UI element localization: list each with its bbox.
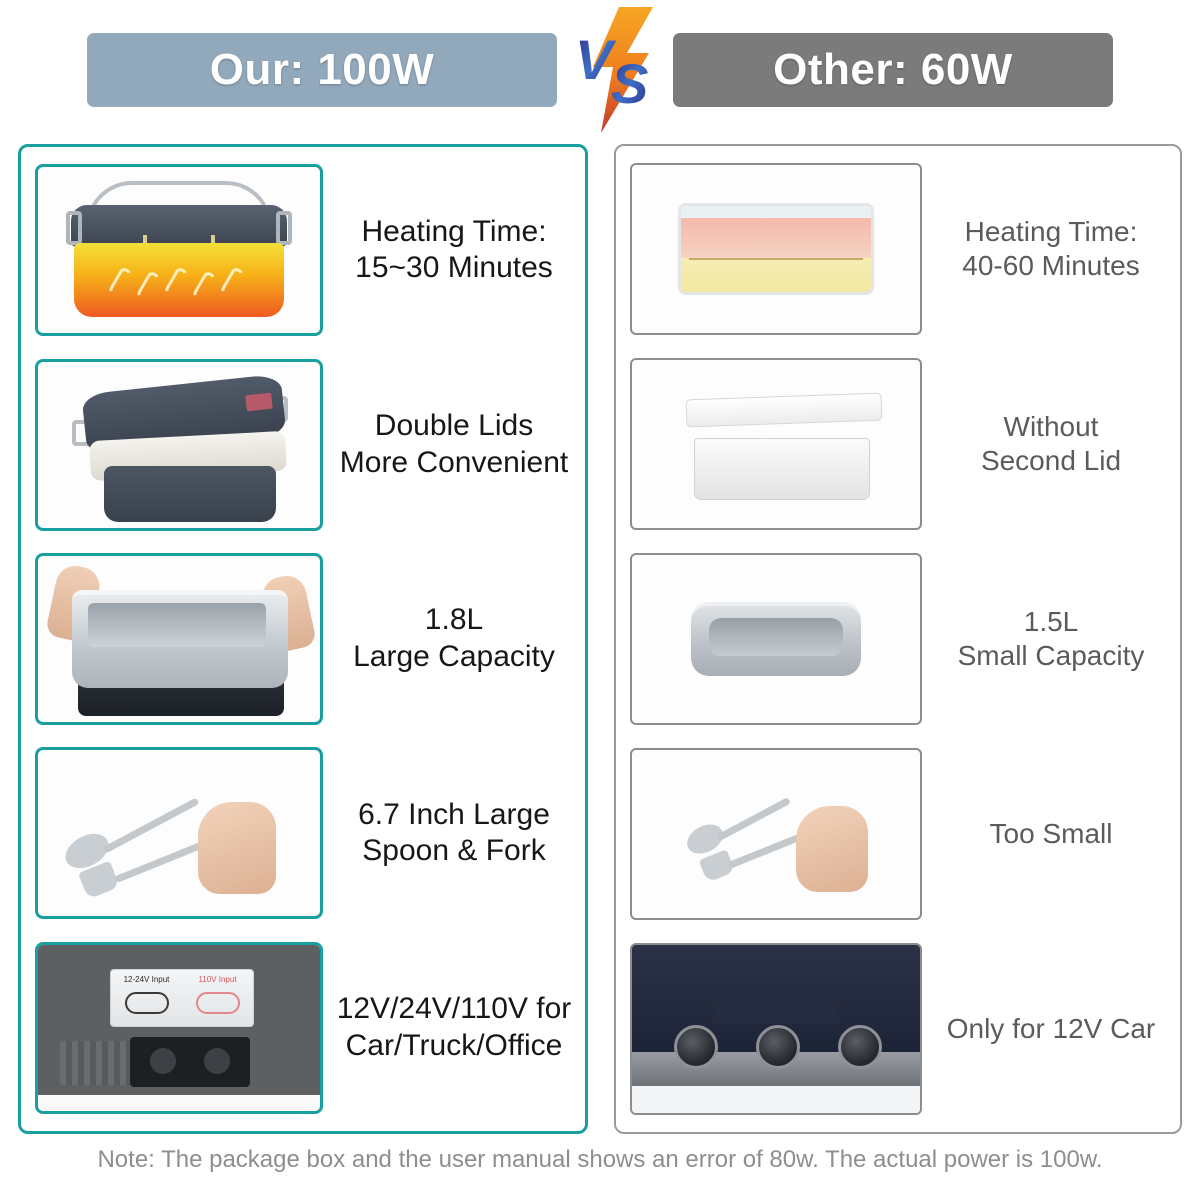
feature-caption: Heating Time: 40-60 Minutes <box>922 215 1180 283</box>
car-socket-panel-image <box>630 943 922 1115</box>
caption-line-1: 12V/24V/110V for <box>337 992 572 1025</box>
car-socket-icon <box>756 1025 800 1069</box>
caption-line-2: Small Capacity <box>928 639 1174 673</box>
translucent-box-shape <box>678 203 874 295</box>
caption-line-1: Without <box>1004 411 1099 442</box>
caption-line-1: Double Lids <box>375 409 533 442</box>
other-power-banner: Other: 60W <box>673 33 1113 107</box>
caption-line-2: 15~30 Minutes <box>329 250 579 287</box>
panel-base-strip <box>38 1095 320 1111</box>
feature-row-single-lid: Without Second Lid <box>616 347 1180 542</box>
panel-base-strip <box>632 1086 920 1113</box>
box-clip-left-icon <box>66 211 82 245</box>
hand-icon <box>198 802 276 894</box>
other-power-label: Other: 60W <box>773 45 1013 95</box>
feature-row-heating-time: Heating Time: 40-60 Minutes <box>616 152 1180 347</box>
footer-note-text: Note: The package box and the user manua… <box>97 1146 1102 1173</box>
caption-line-1: Heating Time: <box>965 216 1138 247</box>
feature-caption: Without Second Lid <box>922 410 1180 478</box>
our-power-banner: Our: 100W <box>87 33 557 107</box>
feature-caption: Only for 12V Car <box>922 1012 1180 1046</box>
feature-caption: Heating Time: 15~30 Minutes <box>323 214 585 287</box>
feature-caption: 1.5L Small Capacity <box>922 605 1180 673</box>
upper-compartment <box>681 218 871 258</box>
caption-line-1: Only for 12V Car <box>947 1013 1156 1044</box>
our-power-label: Our: 100W <box>210 45 435 95</box>
spoon-handle <box>715 797 791 842</box>
caption-line-1: Heating Time: <box>361 215 546 248</box>
panel-bump <box>712 983 840 1023</box>
steel-container-shape <box>72 590 288 688</box>
feature-caption: Double Lids More Convenient <box>323 408 585 481</box>
caption-line-1: 6.7 Inch Large <box>358 798 550 831</box>
box-lid-shape <box>71 205 287 247</box>
steel-tray-shape <box>691 602 861 676</box>
divider-line <box>689 258 864 260</box>
ac-input-text: 110V Input <box>198 975 236 984</box>
box-base-shape <box>104 466 276 522</box>
header-bar: Our: 100W V S <box>0 0 1200 140</box>
feature-row-double-lids: Double Lids More Convenient <box>21 347 585 541</box>
power-input-panel-image: 12-24V Input 110V Input <box>35 942 323 1114</box>
double-lid-lunch-box-image <box>35 359 323 531</box>
container-interior <box>88 603 266 647</box>
footer-note: Note: The package box and the user manua… <box>0 1146 1200 1174</box>
large-steel-container-hands-image <box>35 553 323 725</box>
caption-line-1: 1.5L <box>1024 606 1079 637</box>
car-socket-icon <box>838 1025 882 1069</box>
dc-input-section: 12-24V Input <box>111 970 182 1026</box>
tray-interior <box>709 618 843 656</box>
fork-handle <box>114 840 207 883</box>
other-product-column: Heating Time: 40-60 Minutes Without Seco… <box>614 144 1182 1134</box>
feature-row-power-input: Only for 12V Car <box>616 931 1180 1126</box>
vent-grille <box>60 1041 132 1085</box>
ac-socket-icon <box>196 992 240 1014</box>
caption-line-2: Car/Truck/Office <box>329 1028 579 1065</box>
comparison-infographic: Our: 100W V S <box>0 0 1200 1200</box>
feature-row-cutlery: 6.7 Inch Large Spoon & Fork <box>21 736 585 930</box>
voltage-label: 12-24V Input 110V Input <box>110 969 254 1027</box>
feature-row-power-input: 12-24V Input 110V Input 12V/24V/110V for <box>21 931 585 1125</box>
brand-badge-icon <box>245 392 273 411</box>
box-lid-shape <box>686 393 883 428</box>
feature-row-capacity: 1.8L Large Capacity <box>21 542 585 736</box>
vs-lightning-icon: V S <box>567 5 663 135</box>
single-lid-white-box-image <box>630 358 922 530</box>
box-base-shape <box>694 438 870 500</box>
feature-caption: 12V/24V/110V for Car/Truck/Office <box>323 991 585 1064</box>
dc-input-text: 12-24V Input <box>124 975 170 984</box>
dc-socket-icon <box>125 992 169 1014</box>
heated-lunch-box-image <box>35 164 323 336</box>
feature-row-heating-time: Heating Time: 15~30 Minutes <box>21 153 585 347</box>
box-lid-shape <box>681 206 871 218</box>
caption-line-1: 1.8L <box>425 603 483 636</box>
feature-caption: 6.7 Inch Large Spoon & Fork <box>323 797 585 870</box>
vs-badge: V S <box>567 5 663 135</box>
feature-caption: Too Small <box>922 817 1180 851</box>
feature-caption: 1.8L Large Capacity <box>323 602 585 675</box>
caption-line-1: Too Small <box>990 818 1113 849</box>
translucent-lunch-box-image <box>630 163 922 335</box>
car-socket-icon <box>674 1025 718 1069</box>
small-steel-tray-image <box>630 553 922 725</box>
feature-row-capacity: 1.5L Small Capacity <box>616 542 1180 737</box>
our-product-column: Heating Time: 15~30 Minutes <box>18 144 588 1134</box>
hand-icon <box>796 806 868 892</box>
fork-handle <box>727 834 800 869</box>
lower-compartment <box>681 258 871 295</box>
ac-input-section: 110V Input <box>182 970 253 1026</box>
small-spoon-fork-image <box>630 748 922 920</box>
spoon-handle <box>103 798 200 854</box>
large-spoon-fork-image <box>35 747 323 919</box>
box-clip-right-icon <box>276 211 292 245</box>
caption-line-2: Large Capacity <box>329 639 579 676</box>
caption-line-2: 40-60 Minutes <box>928 249 1174 283</box>
caption-line-2: Second Lid <box>928 444 1174 478</box>
caption-line-2: Spoon & Fork <box>329 833 579 870</box>
power-socket-icon <box>130 1037 250 1087</box>
svg-text:S: S <box>611 52 648 115</box>
feature-row-cutlery: Too Small <box>616 736 1180 931</box>
caption-line-2: More Convenient <box>329 445 579 482</box>
